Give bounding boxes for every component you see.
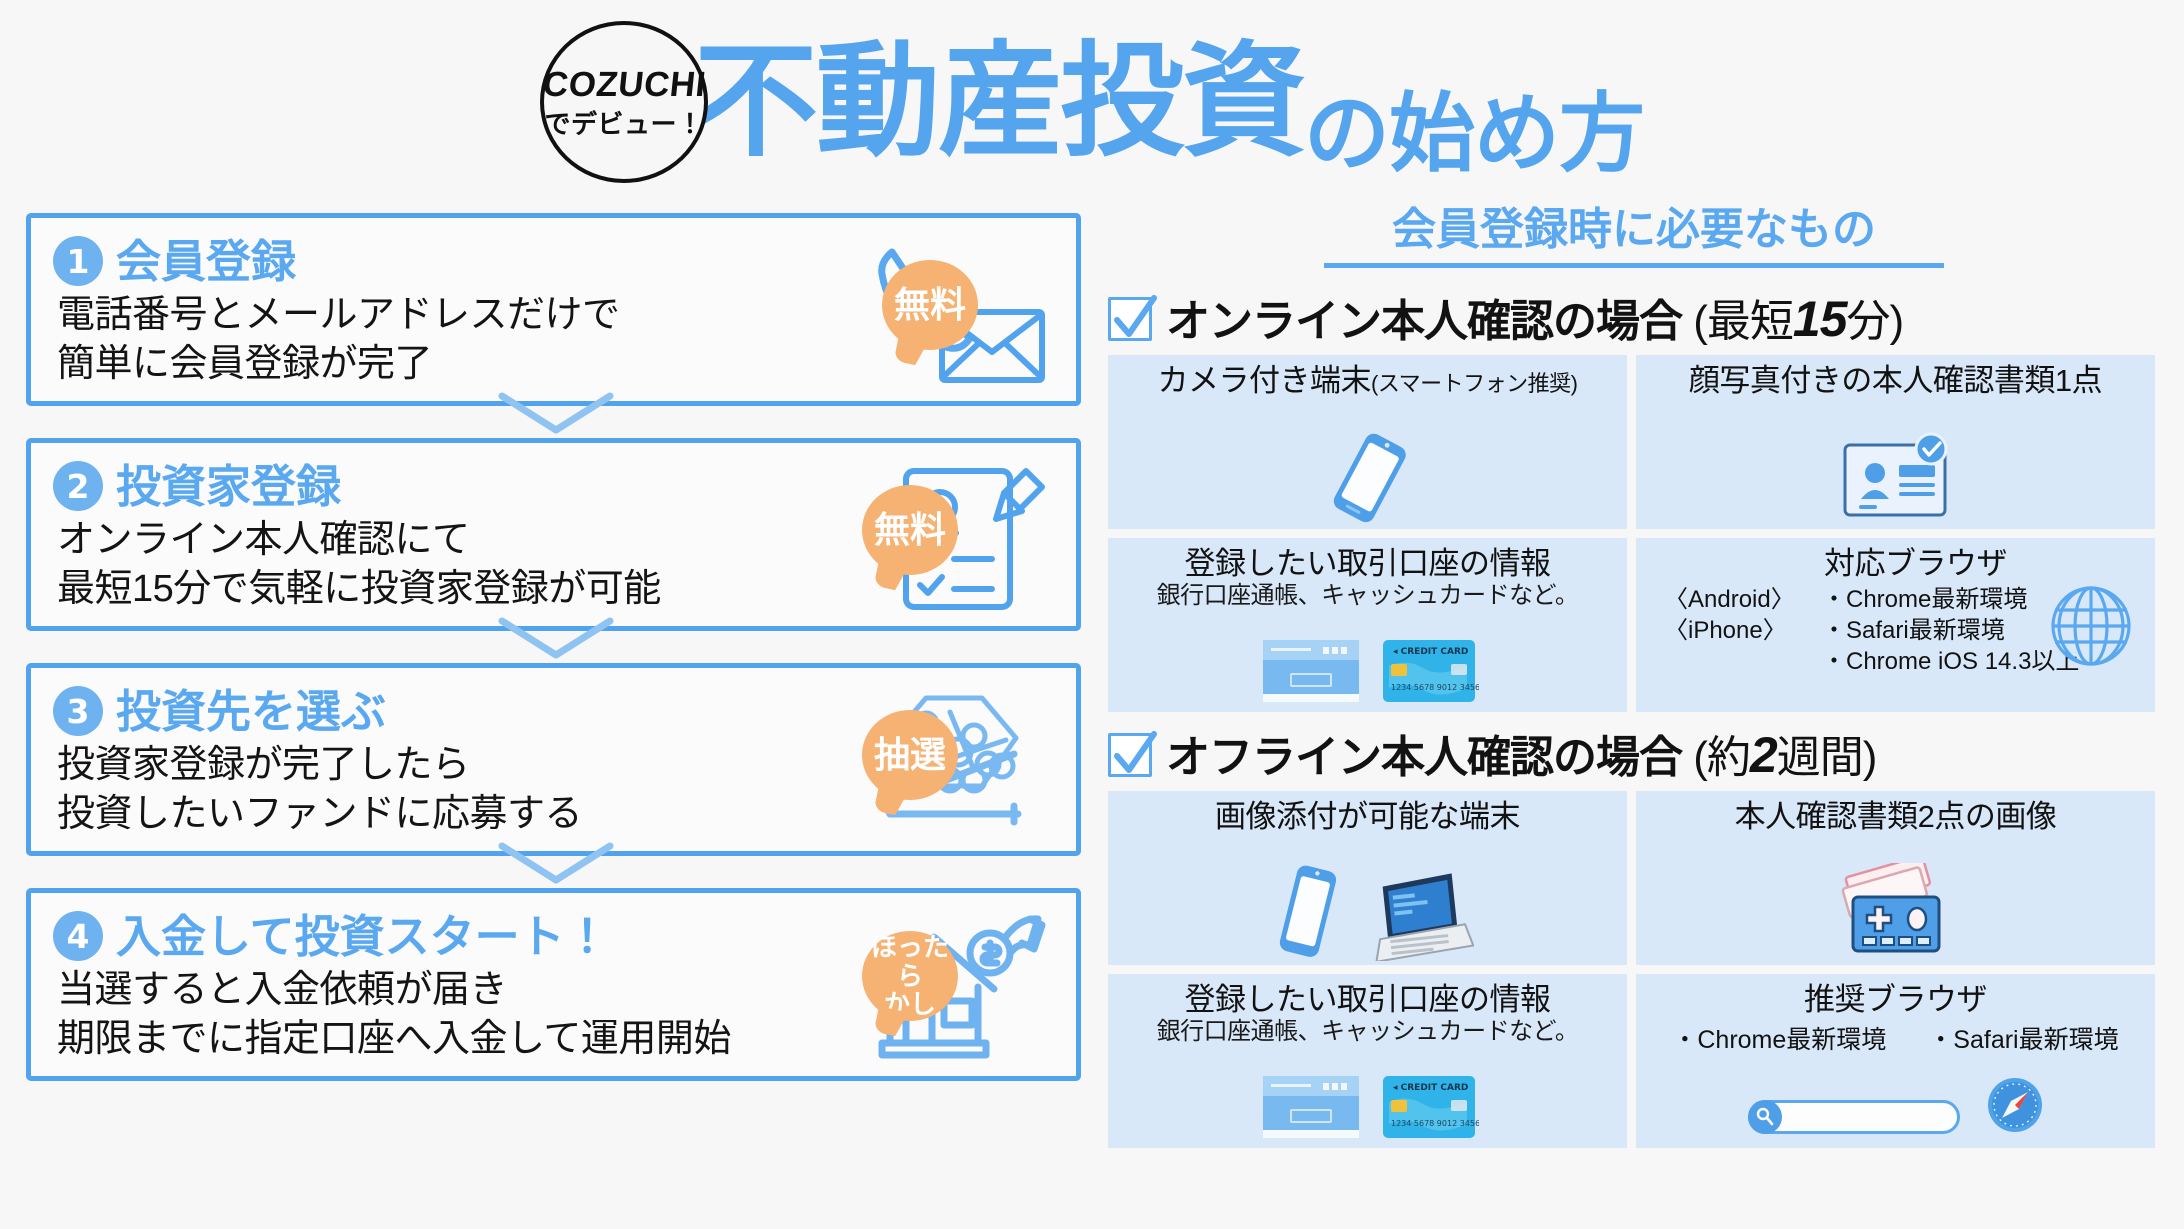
- id-card-check-icon: [1636, 429, 2155, 525]
- cell-title-id-images: 本人確認書類2点の画像: [1636, 800, 2155, 835]
- browser-os-label: 〈Android〉: [1664, 584, 1816, 615]
- smartphone-icon: [1262, 861, 1352, 961]
- step-connector-3: [26, 856, 1081, 888]
- id-cards-stack-icon: [1636, 865, 2155, 961]
- searchbar-safari-icon: [1636, 1038, 2155, 1134]
- infographic-page: COZUCHI でデビュー！ 不動産投資 の始め方 1 会員登録 電話番号とメー…: [0, 0, 2184, 1229]
- requirements-heading: 会員登録時に必要なもの: [1324, 208, 1944, 268]
- requirement-cell-camera-device: カメラ付き端末(スマートフォン推奨): [1108, 355, 1627, 529]
- svg-text:◂ CREDIT CARD: ◂ CREDIT CARD: [1393, 647, 1468, 657]
- laptop-icon: [1364, 873, 1474, 961]
- step-number-4: 4: [53, 911, 103, 961]
- step-badge-1: 無料: [882, 260, 978, 350]
- section-title-offline-paren-close: 週間): [1777, 733, 1877, 782]
- section-header-online: オンライン本人確認の場合 (最短15分): [1108, 294, 2160, 344]
- step-title-1: 会員登録: [116, 239, 296, 284]
- step-wrap-3: 3 投資先を選ぶ 投資家登録が完了したら 投資したいファンドに応募する 抽選: [26, 663, 1081, 888]
- section-header-offline: オフライン本人確認の場合 (約2週間): [1108, 730, 2160, 780]
- step-card-3: 3 投資先を選ぶ 投資家登録が完了したら 投資したいファンドに応募する 抽選: [26, 663, 1081, 856]
- step-card-2: 2 投資家登録 オンライン本人確認にて 最短15分で気軽に投資家登録が可能 無料: [26, 438, 1081, 631]
- requirement-cell-bank-account: 登録したい取引口座の情報 銀行口座通帳、キャッシュカードなど。 ◂: [1108, 538, 1627, 712]
- credit-card-icon: ◂ CREDIT CARD 1234 5678 9012 3456: [1379, 636, 1479, 708]
- svg-text:1234 5678 9012 3456: 1234 5678 9012 3456: [1391, 1119, 1479, 1128]
- section-title-offline-duration: 2: [1750, 727, 1777, 783]
- browser-value-label: ・Chrome iOS 14.3以上: [1822, 646, 2079, 677]
- cell-sub-bank-account: 銀行口座通帳、キャッシュカードなど。: [1108, 583, 1627, 609]
- step-card-4: 4 入金して投資スタート！ 当選すると入金依頼が届き 期限までに指定口座へ入金し…: [26, 888, 1081, 1081]
- cell-sub-bank-account-2: 銀行口座通帳、キャッシュカードなど。: [1108, 1019, 1627, 1045]
- page-title-main: 不動産投資: [694, 40, 1304, 164]
- cell-title-bank-account-2: 登録したい取引口座の情報: [1108, 983, 1627, 1018]
- requirement-cell-supported-browser: 対応ブラウザ 〈Android〉 ・Chrome最新環境 〈iPhone〉 ・S…: [1636, 538, 2155, 712]
- checkbox-checked-icon: [1108, 733, 1152, 777]
- credit-card-icon: ◂ CREDIT CARD 1234 5678 9012 3456: [1379, 1072, 1479, 1144]
- section-title-online-paren-open: (最短: [1682, 297, 1793, 346]
- requirements-grid-online: カメラ付き端末(スマートフォン推奨) 顔写真付きの本人確認書類1点: [1108, 355, 2160, 712]
- step-wrap-2: 2 投資家登録 オンライン本人確認にて 最短15分で気軽に投資家登録が可能 無料: [26, 438, 1081, 663]
- passbook-icon: [1257, 632, 1367, 708]
- cell-title-bank-account: 登録したい取引口座の情報: [1108, 547, 1627, 582]
- step-title-4: 入金して投資スタート！: [116, 914, 610, 959]
- section-title-offline-text: オフライン本人確認の場合: [1166, 733, 1682, 782]
- cell-title-image-attach-device: 画像添付が可能な端末: [1108, 800, 1627, 835]
- cell-title-camera-device: カメラ付き端末(スマートフォン推奨): [1108, 364, 1627, 399]
- requirement-cell-id-images: 本人確認書類2点の画像: [1636, 791, 2155, 965]
- step-number-1: 1: [53, 236, 103, 286]
- search-icon: [1748, 1100, 1782, 1134]
- browser-value-label: ・Chrome最新環境: [1822, 584, 2027, 615]
- svg-text:◂ CREDIT CARD: ◂ CREDIT CARD: [1393, 1083, 1468, 1093]
- step-badge-3: 抽選: [862, 710, 958, 800]
- step-number-2: 2: [53, 461, 103, 511]
- requirement-cell-recommended-browser: 推奨ブラウザ ・Chrome最新環境 ・Safari最新環境: [1636, 974, 2155, 1148]
- passbook-card-icon: ◂ CREDIT CARD 1234 5678 9012 3456: [1108, 1048, 1627, 1144]
- section-title-online: オンライン本人確認の場合 (最短15分): [1166, 294, 1903, 344]
- step-badge-2: 無料: [862, 485, 958, 575]
- phone-laptop-icon: [1108, 865, 1627, 961]
- checkbox-checked-icon: [1108, 297, 1152, 341]
- smartphone-icon: [1108, 429, 1627, 525]
- cell-title-text: カメラ付き端末: [1158, 363, 1372, 398]
- section-title-online-paren-close: 分): [1847, 297, 1904, 346]
- section-title-offline-paren-open: (約: [1682, 733, 1750, 782]
- search-input[interactable]: [1748, 1100, 1960, 1134]
- step-wrap-4: 4 入金して投資スタート！ 当選すると入金依頼が届き 期限までに指定口座へ入金し…: [26, 888, 1081, 1081]
- browser-value-label: ・Safari最新環境: [1822, 615, 2005, 646]
- logo-brand-text: COZUCHI: [541, 67, 708, 102]
- requirement-cell-photo-id: 顔写真付きの本人確認書類1点: [1636, 355, 2155, 529]
- step-badge-4: ほったら かし: [862, 931, 958, 1021]
- step-connector-2: [26, 631, 1081, 663]
- globe-icon: [2045, 580, 2137, 677]
- step-title-2: 投資家登録: [116, 464, 341, 509]
- passbook-card-icon: ◂ CREDIT CARD 1234 5678 9012 3456: [1108, 612, 1627, 708]
- section-title-online-text: オンライン本人確認の場合: [1166, 297, 1682, 346]
- steps-column: 1 会員登録 電話番号とメールアドレスだけで 簡単に会員登録が完了 無料: [26, 213, 1081, 1081]
- step-connector-1: [26, 406, 1081, 438]
- cell-title-note: (スマートフォン推奨): [1371, 371, 1578, 396]
- section-title-offline: オフライン本人確認の場合 (約2週間): [1166, 730, 1876, 780]
- safari-icon: [1986, 1076, 2044, 1134]
- requirements-grid-offline: 画像添付が可能な端末: [1108, 791, 2160, 1148]
- logo-tagline-text: でデビュー！: [544, 111, 703, 137]
- browser-os-label: [1664, 646, 1816, 677]
- passbook-icon: [1257, 1068, 1367, 1144]
- cell-title-recommended-browser: 推奨ブラウザ: [1636, 983, 2155, 1018]
- cell-title-supported-browser: 対応ブラウザ: [1676, 547, 2155, 582]
- browser-os-label: 〈iPhone〉: [1664, 615, 1816, 646]
- svg-text:1234 5678 9012 3456: 1234 5678 9012 3456: [1391, 683, 1479, 692]
- step-number-3: 3: [53, 686, 103, 736]
- requirement-cell-image-attach-device: 画像添付が可能な端末: [1108, 791, 1627, 965]
- page-title-tail: の始め方: [1304, 91, 1644, 189]
- page-header: COZUCHI でデビュー！ 不動産投資 の始め方: [0, 14, 2184, 189]
- step-wrap-1: 1 会員登録 電話番号とメールアドレスだけで 簡単に会員登録が完了 無料: [26, 213, 1081, 438]
- section-title-online-duration: 15: [1793, 291, 1847, 347]
- step-title-3: 投資先を選ぶ: [116, 689, 386, 734]
- cell-title-photo-id: 顔写真付きの本人確認書類1点: [1636, 364, 2155, 399]
- cozuchi-logo-badge: COZUCHI でデビュー！: [540, 21, 708, 183]
- step-card-1: 1 会員登録 電話番号とメールアドレスだけで 簡単に会員登録が完了 無料: [26, 213, 1081, 406]
- requirement-cell-bank-account-2: 登録したい取引口座の情報 銀行口座通帳、キャッシュカードなど。 ◂: [1108, 974, 1627, 1148]
- requirements-column: 会員登録時に必要なもの オンライン本人確認の場合 (最短15分) カメラ付き端末…: [1108, 208, 2160, 1148]
